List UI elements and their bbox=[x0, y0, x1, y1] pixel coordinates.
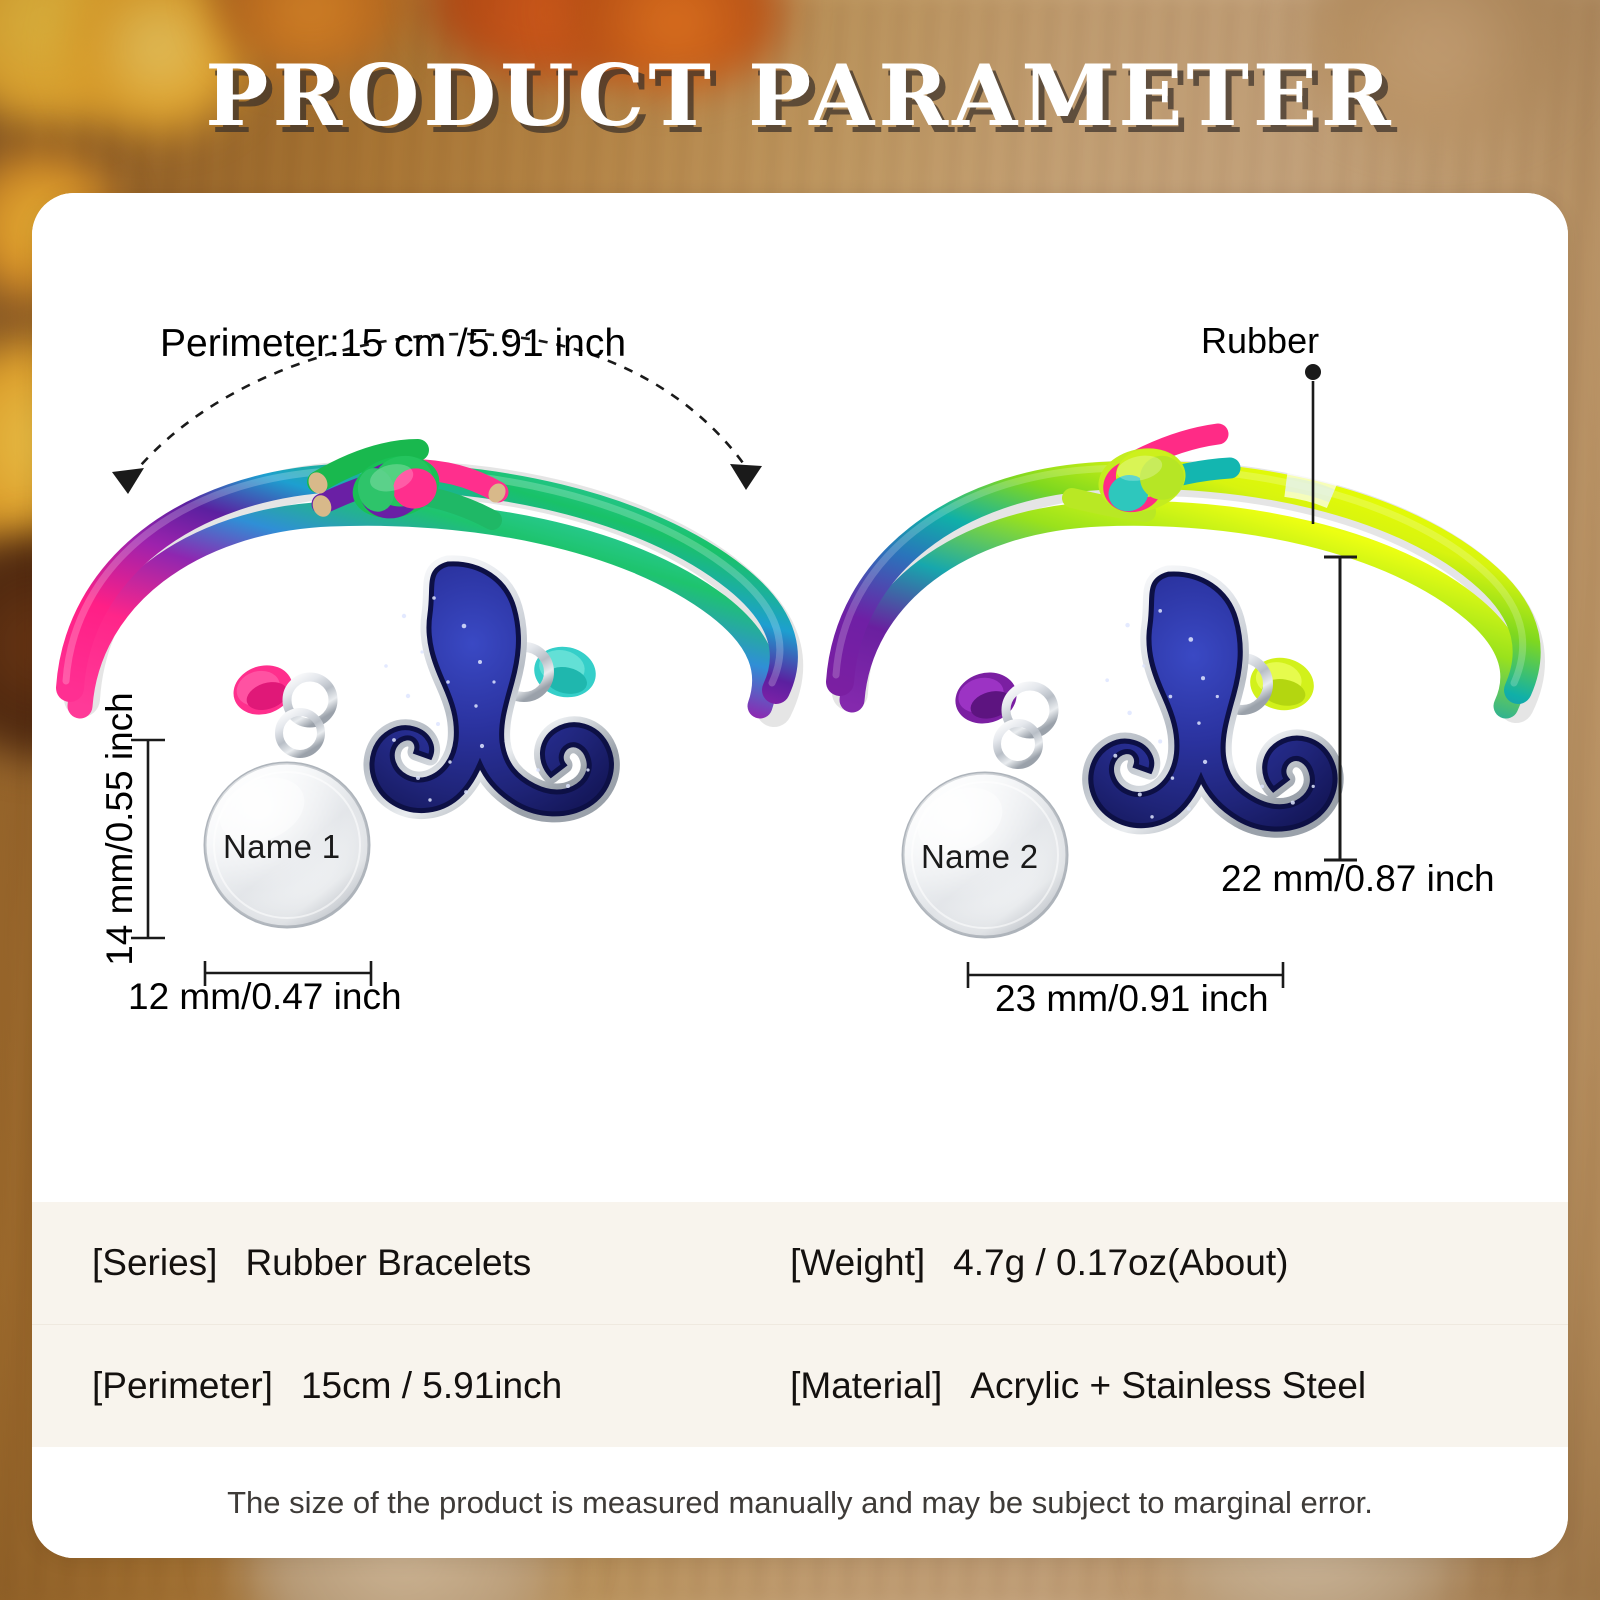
annotation-tag-width-left: 12 mm/0.47 inch bbox=[128, 976, 402, 1018]
spec-row: [Perimeter] 15cm / 5.91inch [Material] A… bbox=[32, 1325, 1568, 1447]
spec-value: Rubber Bracelets bbox=[245, 1242, 531, 1284]
spec-value: Acrylic + Stainless Steel bbox=[970, 1365, 1366, 1407]
annotation-charm-width-right: 23 mm/0.91 inch bbox=[995, 978, 1269, 1020]
spec-table: [Series] Rubber Bracelets [Weight] 4.7g … bbox=[32, 1202, 1568, 1447]
spec-key: [Perimeter] bbox=[92, 1365, 273, 1407]
annotation-perimeter: Perimeter:15 cm /5.91 inch bbox=[160, 322, 626, 366]
annotation-charm-height-right: 22 mm/0.87 inch bbox=[1221, 858, 1495, 900]
footer-disclaimer-band: The size of the product is measured manu… bbox=[32, 1447, 1568, 1558]
footer-disclaimer-text: The size of the product is measured manu… bbox=[227, 1485, 1373, 1521]
name-tag-text-left: Name 1 bbox=[223, 828, 340, 866]
annotation-rubber: Rubber bbox=[1201, 320, 1319, 362]
spec-cell-perimeter: [Perimeter] 15cm / 5.91inch bbox=[32, 1365, 790, 1407]
spec-cell-series: [Series] Rubber Bracelets bbox=[32, 1242, 790, 1284]
name-tag-text-right: Name 2 bbox=[921, 838, 1038, 876]
spec-cell-material: [Material] Acrylic + Stainless Steel bbox=[790, 1365, 1568, 1407]
spec-row: [Series] Rubber Bracelets [Weight] 4.7g … bbox=[32, 1202, 1568, 1324]
spec-key: [Weight] bbox=[790, 1242, 925, 1284]
spec-value: 4.7g / 0.17oz(About) bbox=[953, 1242, 1288, 1284]
spec-key: [Material] bbox=[790, 1365, 942, 1407]
infographic-stage: PRODUCT PARAMETER [Series] Rubber Bracel… bbox=[0, 0, 1600, 1600]
spec-key: [Series] bbox=[92, 1242, 217, 1284]
spec-value: 15cm / 5.91inch bbox=[301, 1365, 562, 1407]
spec-cell-weight: [Weight] 4.7g / 0.17oz(About) bbox=[790, 1242, 1568, 1284]
annotation-charm-height-left: 14 mm/0.55 inch bbox=[99, 679, 141, 979]
page-title: PRODUCT PARAMETER bbox=[0, 46, 1600, 145]
